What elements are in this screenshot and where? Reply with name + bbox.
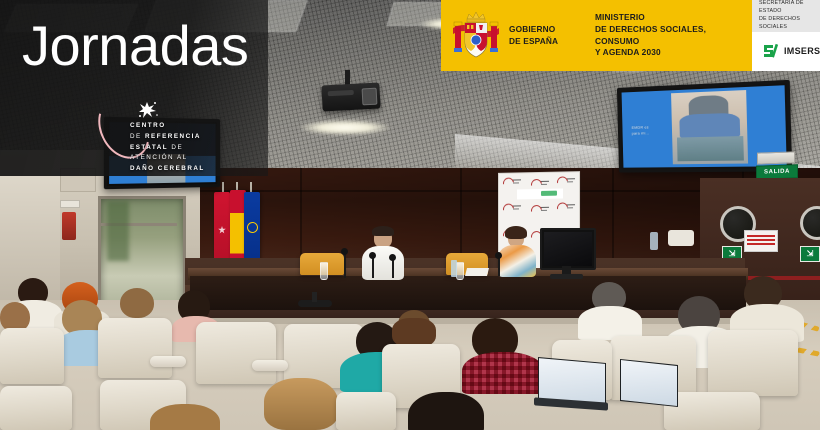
monitor-foot — [550, 274, 583, 279]
exit-pictogram-glyph: ⇲ — [807, 250, 814, 258]
notice-line — [747, 239, 775, 241]
notice-line — [747, 243, 775, 245]
government-banner: GOBIERNO DE ESPAÑA MINISTERIO DE DERECHO… — [441, 0, 820, 71]
window-foliage — [107, 201, 129, 261]
exit-sign-label: SALIDA — [764, 169, 790, 176]
ceadac-line-2b: REFERENCIA — [145, 133, 201, 140]
audience-head — [120, 288, 154, 318]
microphone-head — [389, 254, 396, 261]
wall-notice-sign — [744, 230, 778, 252]
audience-shoulders — [578, 306, 642, 340]
microphone-stem — [344, 252, 346, 278]
water-glass — [320, 262, 328, 280]
ceadac-line-2a: DE — [130, 133, 145, 140]
audience-seat — [336, 392, 396, 430]
exit-pictogram-glyph: ⇲ — [729, 250, 736, 258]
projector-vent — [328, 90, 354, 96]
water-glass — [456, 262, 464, 280]
ceadac-line-1: CENTRO — [130, 122, 166, 129]
imserso-mark-icon — [761, 42, 779, 60]
water-bottle — [451, 260, 457, 277]
table-monitor — [540, 228, 596, 270]
water-bottle — [650, 232, 658, 250]
audience-seat — [196, 322, 276, 384]
audience-head — [150, 404, 220, 430]
paper-sheet — [465, 268, 489, 276]
fire-extinguisher — [62, 212, 76, 240]
government-banner-yellow: GOBIERNO DE ESPAÑA MINISTERIO DE DERECHO… — [441, 0, 752, 71]
secretaria-line-1: SECRETARÍA DE ESTADO — [759, 0, 820, 16]
audience-seat — [0, 328, 64, 384]
gobierno-de-espana-label: GOBIERNO DE ESPAÑA — [509, 24, 583, 48]
imserso-logo: IMSERSO — [752, 32, 820, 71]
audience-seat — [708, 330, 798, 396]
ministerio-line-1: MINISTERIO — [595, 12, 752, 24]
slide-person-torso — [679, 112, 740, 138]
imserso-label: IMSERSO — [784, 46, 820, 56]
ministerio-label: MINISTERIO DE DERECHOS SOCIALES, CONSUMO… — [595, 12, 752, 59]
office-chair-column — [312, 292, 317, 302]
seat-armrest — [252, 360, 288, 371]
microphone-head — [341, 248, 348, 255]
government-banner-right: SECRETARÍA DE ESTADO DE DERECHOS SOCIALE… — [752, 0, 820, 71]
audience-head — [408, 392, 484, 430]
ceadac-line-5: DAÑO CEREBRAL — [130, 165, 205, 172]
table-monitor-screen — [544, 232, 592, 266]
ceadac-logo: CENTRO DE REFERENCIA ESTATAL DE ATENCIÓN… — [100, 92, 218, 172]
speaker-right-hair — [505, 226, 527, 239]
madrid-star — [218, 226, 226, 234]
fire-extinguisher-sign — [60, 200, 80, 208]
audience-seat — [0, 386, 72, 430]
spain-coat-of-arms-icon — [453, 10, 499, 62]
air-conditioning-unit — [757, 151, 795, 164]
seat-armrest — [150, 356, 186, 367]
secretaria-de-estado-label: SECRETARÍA DE ESTADO DE DERECHOS SOCIALE… — [752, 0, 820, 32]
ceiling-light — [300, 120, 390, 135]
audience-head — [264, 378, 338, 430]
ceadac-line-3b: DE — [168, 144, 183, 151]
microphone-stem — [498, 256, 500, 276]
audience-shoulders — [462, 352, 544, 394]
slide-photo — [671, 90, 748, 164]
side-table-item — [668, 230, 694, 246]
emergency-exit-pictogram: ⇲ — [800, 246, 820, 262]
conference-photo-screenshot: EMDR es para mí... SALIDA ⇲ ⇲ — [0, 0, 820, 430]
ceadac-line-4: ATENCIÓN AL — [130, 154, 188, 161]
page-title: Jornadas — [22, 18, 248, 74]
microphone-stem — [392, 258, 394, 278]
ministerio-line-3: Y AGENDA 2030 — [595, 47, 752, 59]
secretaria-line-2: DE DERECHOS SOCIALES — [759, 16, 820, 32]
speakers-table-front — [190, 276, 746, 310]
banner-imserso-mark — [541, 191, 557, 196]
microphone-head — [369, 252, 376, 259]
ceiling-projector — [321, 83, 380, 112]
gobierno-line-2: DE ESPAÑA — [509, 36, 583, 48]
audience-seat — [98, 318, 172, 378]
ceadac-logo-text: CENTRO DE REFERENCIA ESTATAL DE ATENCIÓN… — [130, 121, 205, 175]
microphone-stem — [372, 256, 374, 278]
audience-seat — [664, 392, 760, 430]
gobierno-line-1: GOBIERNO — [509, 24, 583, 36]
microphone-head — [495, 252, 502, 259]
notice-line — [747, 235, 775, 237]
speaker-right-torso — [498, 245, 536, 277]
ministerio-line-2: DE DERECHOS SOCIALES, CONSUMO — [595, 24, 752, 48]
eu-stars-ring — [247, 222, 258, 233]
ceadac-splatter-icon — [137, 100, 159, 120]
slide-person-legs — [677, 136, 744, 162]
projector-lens — [362, 88, 378, 106]
ceadac-line-3a: ESTATAL — [130, 144, 168, 151]
slide-text: EMDR es para mí... — [632, 125, 650, 137]
speaker-left-hair — [372, 226, 394, 236]
laptop-screen — [620, 359, 678, 407]
speaker-left-torso — [362, 246, 404, 280]
